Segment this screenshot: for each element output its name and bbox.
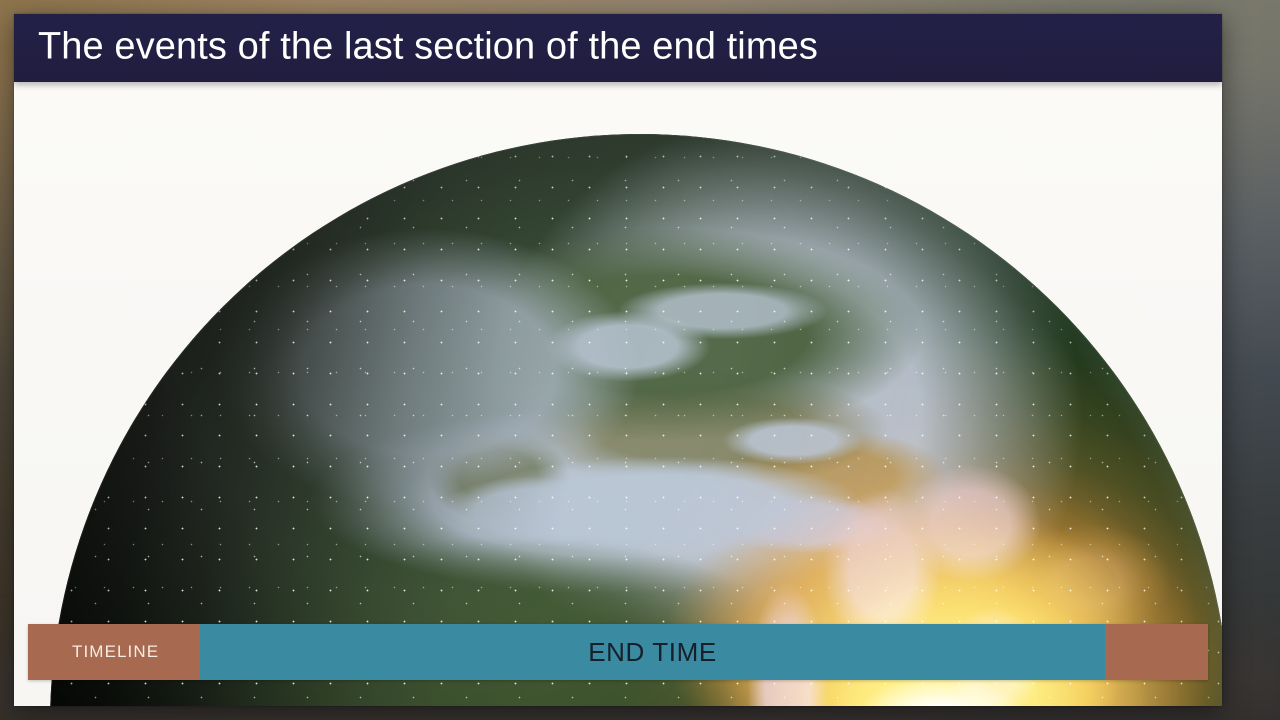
earth-globe-image <box>50 134 1222 706</box>
ribbon-end-cap <box>1105 624 1208 680</box>
slide-footer-ribbon: TIMELINE END TIME <box>28 624 1208 680</box>
globe-limb-highlight <box>50 134 1222 706</box>
timeline-label: TIMELINE <box>72 642 159 662</box>
slide-viewer: The events of the last section of the en… <box>0 0 1280 720</box>
slide-title-bar: The events of the last section of the en… <box>14 14 1222 82</box>
slide-image-area <box>14 82 1222 706</box>
end-time-chip[interactable]: END TIME <box>200 624 1105 680</box>
presentation-slide: The events of the last section of the en… <box>14 14 1222 706</box>
page-title: The events of the last section of the en… <box>38 26 818 69</box>
timeline-chip[interactable]: TIMELINE <box>28 624 200 680</box>
end-time-label: END TIME <box>588 637 717 668</box>
